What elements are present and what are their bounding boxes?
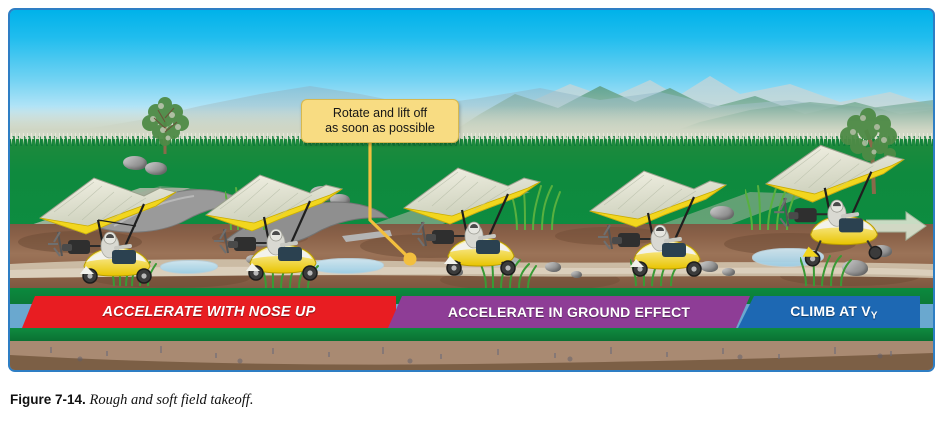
callout-text: Rotate and lift off as soon as possible — [325, 106, 435, 136]
soil-cross-section — [10, 341, 933, 370]
figure-caption-label: Figure 7-14. — [10, 392, 86, 407]
figure-caption: Figure 7-14. Rough and soft field takeof… — [10, 392, 910, 409]
soil-layers — [10, 341, 933, 370]
illustration-scene: Rotate and lift off as soon as possible … — [10, 10, 933, 370]
phase-bar-label: CLIMB AT VY — [780, 303, 877, 322]
shrub-tree-left — [134, 88, 198, 154]
aircraft-trike-1 — [36, 162, 196, 280]
figure-image-frame: Rotate and lift off as soon as possible … — [8, 8, 935, 372]
aircraft-trike-3 — [400, 150, 560, 272]
figure-root: Rotate and lift off as soon as possible … — [0, 0, 939, 421]
phase-bar-accelerate-ground-effect: ACCELERATE IN GROUND EFFECT — [388, 296, 750, 328]
phase-bar-accelerate-nose-up: ACCELERATE WITH NOSE UP — [22, 296, 396, 328]
phase-bar-label-subscript: Y — [871, 310, 878, 321]
figure-caption-text: Rough and soft field takeoff. — [90, 392, 254, 408]
phase-bar-group: ACCELERATE WITH NOSE UP ACCELERATE IN GR… — [22, 296, 920, 328]
phase-bar-label: ACCELERATE IN GROUND EFFECT — [448, 304, 690, 320]
phase-bar-label-prefix: CLIMB AT V — [790, 303, 871, 319]
phase-bar-label: ACCELERATE WITH NOSE UP — [103, 304, 316, 320]
aircraft-trike-4 — [586, 154, 746, 274]
aircraft-trike-2 — [202, 158, 362, 278]
phase-bar-climb-at-vy: CLIMB AT VY — [738, 296, 920, 328]
aircraft-trike-5 — [762, 132, 924, 264]
rock — [571, 271, 582, 278]
rotate-and-lift-off-callout: Rotate and lift off as soon as possible — [301, 99, 459, 143]
lower-grass-strip-lower — [10, 328, 933, 342]
